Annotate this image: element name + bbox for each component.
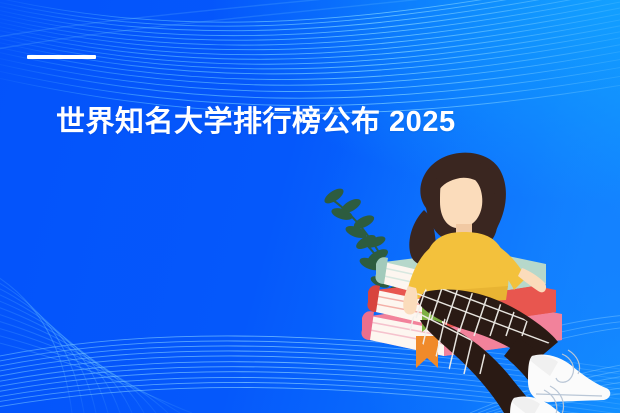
- accent-rule: [27, 55, 96, 59]
- page-title: 世界知名大学排行榜公布 2025: [56, 104, 456, 140]
- promo-banner: 世界知名大学排行榜公布 2025: [0, 0, 620, 413]
- sneaker-upper-icon: [528, 350, 610, 402]
- bookmark-orange-icon: [416, 336, 438, 368]
- illustration-woman-reading: [318, 150, 620, 413]
